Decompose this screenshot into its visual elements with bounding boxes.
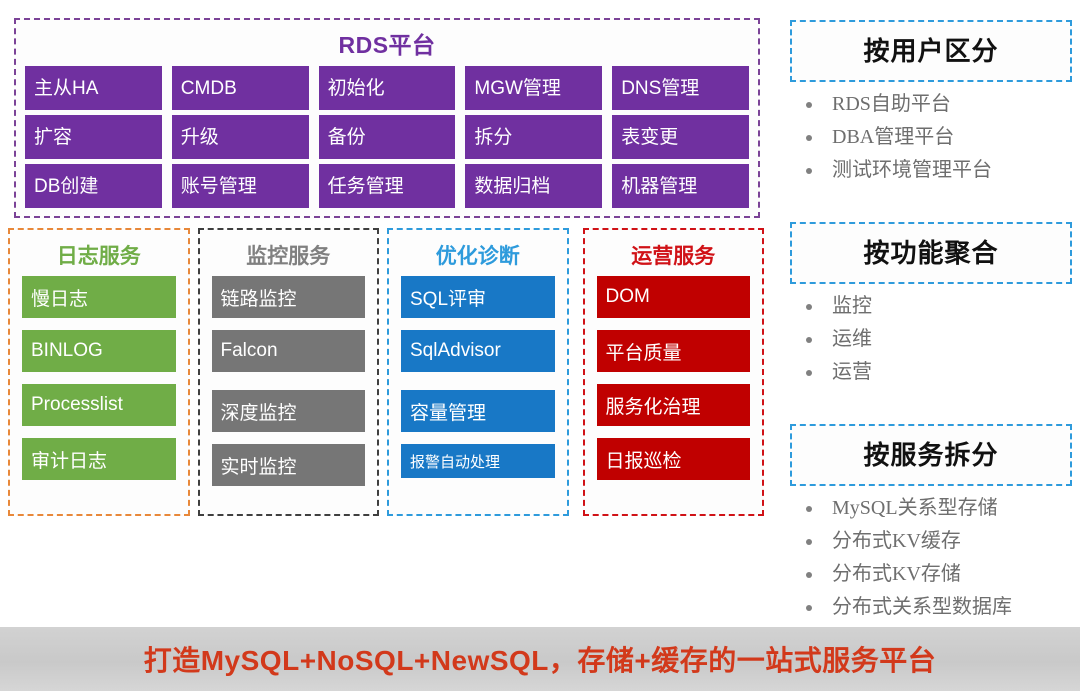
operations-service-title: 运营服务	[597, 238, 751, 276]
rds-tile[interactable]: 机器管理	[612, 164, 749, 208]
sidebar-group-by-function: 按功能聚合 监控 运维 运营	[790, 222, 1072, 389]
rds-platform-title: RDS平台	[16, 20, 758, 62]
operations-service-item[interactable]: 平台质量	[597, 330, 751, 372]
sidebar-group-header: 按用户区分	[790, 20, 1072, 82]
service-group-row: 日志服务 慢日志 BINLOG Processlist 审计日志 监控服务 链路…	[8, 228, 764, 516]
sidebar-group-by-service: 按服务拆分 MySQL关系型存储 分布式KV缓存 分布式KV存储 分布式关系型数…	[790, 424, 1072, 624]
sidebar-list-item: MySQL关系型存储	[798, 492, 1072, 525]
operations-service-item[interactable]: 服务化治理	[597, 384, 751, 426]
rds-tile[interactable]: 数据归档	[465, 164, 602, 208]
sidebar-group-header: 按功能聚合	[790, 222, 1072, 284]
sidebar-list-item: 分布式KV缓存	[798, 525, 1072, 558]
sidebar-group-header: 按服务拆分	[790, 424, 1072, 486]
rds-tile[interactable]: 升级	[172, 115, 309, 159]
optimization-service-title: 优化诊断	[401, 238, 555, 276]
optimization-service-item[interactable]: 报警自动处理	[401, 444, 555, 478]
rds-tile[interactable]: 初始化	[319, 66, 456, 110]
sidebar-list-item: DBA管理平台	[798, 121, 1072, 154]
monitor-service-item[interactable]: Falcon	[212, 330, 366, 372]
classification-sidebar: 按用户区分 RDS自助平台 DBA管理平台 测试环境管理平台 按功能聚合 监控 …	[782, 0, 1080, 620]
rds-tile[interactable]: 扩容	[25, 115, 162, 159]
sidebar-list-item: 运维	[798, 323, 1072, 356]
sidebar-group-list: RDS自助平台 DBA管理平台 测试环境管理平台	[790, 88, 1072, 187]
rds-tile[interactable]: 账号管理	[172, 164, 309, 208]
rds-tile[interactable]: 主从HA	[25, 66, 162, 110]
sidebar-list-item: 监控	[798, 290, 1072, 323]
log-service-items: 慢日志 BINLOG Processlist 审计日志	[22, 276, 176, 480]
operations-service-panel: 运营服务 DOM 平台质量 服务化治理 日报巡检	[583, 228, 765, 516]
optimization-service-item[interactable]: SqlAdvisor	[401, 330, 555, 372]
monitor-service-items: 链路监控 Falcon 深度监控 实时监控	[212, 276, 366, 486]
log-service-item[interactable]: 审计日志	[22, 438, 176, 480]
optimization-service-item[interactable]: 容量管理	[401, 390, 555, 432]
log-service-item[interactable]: BINLOG	[22, 330, 176, 372]
optimization-service-items: SQL评审 SqlAdvisor 容量管理 报警自动处理	[401, 276, 555, 478]
sidebar-group-list: 监控 运维 运营	[790, 290, 1072, 389]
rds-tile[interactable]: CMDB	[172, 66, 309, 110]
rds-platform-panel: RDS平台 主从HA CMDB 初始化 MGW管理 DNS管理 扩容 升级 备份…	[14, 18, 760, 218]
monitor-service-item[interactable]: 链路监控	[212, 276, 366, 318]
optimization-service-item[interactable]: SQL评审	[401, 276, 555, 318]
rds-platform-tile-grid: 主从HA CMDB 初始化 MGW管理 DNS管理 扩容 升级 备份 拆分 表变…	[25, 66, 749, 208]
log-service-panel: 日志服务 慢日志 BINLOG Processlist 审计日志	[8, 228, 190, 516]
operations-service-item[interactable]: 日报巡检	[597, 438, 751, 480]
sidebar-list-item: 分布式关系型数据库	[798, 591, 1072, 624]
rds-tile[interactable]: DB创建	[25, 164, 162, 208]
slogan-text: 打造MySQL+NoSQL+NewSQL，存储+缓存的一站式服务平台	[144, 639, 937, 679]
sidebar-list-item: RDS自助平台	[798, 88, 1072, 121]
monitor-service-item[interactable]: 深度监控	[212, 390, 366, 432]
sidebar-list-item: 测试环境管理平台	[798, 154, 1072, 187]
rds-tile[interactable]: DNS管理	[612, 66, 749, 110]
rds-tile[interactable]: MGW管理	[465, 66, 602, 110]
rds-tile[interactable]: 拆分	[465, 115, 602, 159]
sidebar-list-item: 运营	[798, 356, 1072, 389]
sidebar-list-item: 分布式KV存储	[798, 558, 1072, 591]
sidebar-group-by-user: 按用户区分 RDS自助平台 DBA管理平台 测试环境管理平台	[790, 20, 1072, 187]
optimization-service-panel: 优化诊断 SQL评审 SqlAdvisor 容量管理 报警自动处理	[387, 228, 569, 516]
operations-service-items: DOM 平台质量 服务化治理 日报巡检	[597, 276, 751, 480]
rds-tile[interactable]: 任务管理	[319, 164, 456, 208]
monitor-service-panel: 监控服务 链路监控 Falcon 深度监控 实时监控	[198, 228, 380, 516]
monitor-service-title: 监控服务	[212, 238, 366, 276]
log-service-title: 日志服务	[22, 238, 176, 276]
rds-tile[interactable]: 表变更	[612, 115, 749, 159]
architecture-column: RDS平台 主从HA CMDB 初始化 MGW管理 DNS管理 扩容 升级 备份…	[0, 0, 772, 620]
rds-tile[interactable]: 备份	[319, 115, 456, 159]
bottom-slogan-banner: 打造MySQL+NoSQL+NewSQL，存储+缓存的一站式服务平台	[0, 627, 1080, 691]
sidebar-group-list: MySQL关系型存储 分布式KV缓存 分布式KV存储 分布式关系型数据库	[790, 492, 1072, 624]
operations-service-item[interactable]: DOM	[597, 276, 751, 318]
log-service-item[interactable]: Processlist	[22, 384, 176, 426]
monitor-service-item[interactable]: 实时监控	[212, 444, 366, 486]
log-service-item[interactable]: 慢日志	[22, 276, 176, 318]
